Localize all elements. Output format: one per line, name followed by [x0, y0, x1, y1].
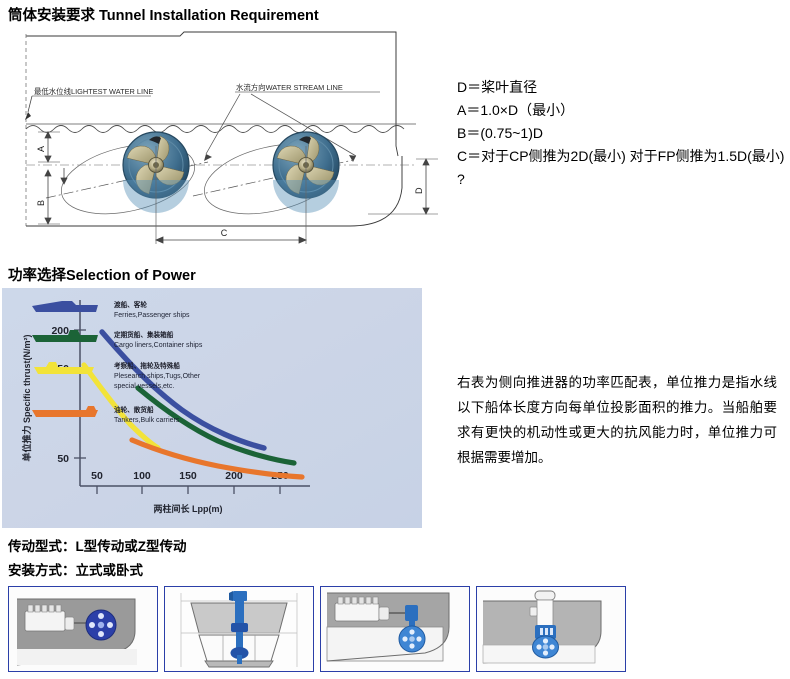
curve-ferries-passenger [102, 332, 264, 448]
x-tick-100: 100 [133, 470, 151, 482]
legend-en-research-1: Plesearch ships,Tugs,Other [114, 373, 201, 380]
formula-line-b: B＝(0.75~1)D [457, 122, 787, 145]
dimension-c [156, 237, 306, 243]
dimension-d [368, 159, 438, 214]
dimension-d-label: D [414, 187, 424, 194]
legend-en-tankers: Tankers,Bulk carriers [114, 417, 180, 424]
dimension-a-label: A [36, 146, 46, 152]
legend-en-ferries: Ferries,Passenger ships [114, 312, 190, 319]
legend-en-research-2: special vessels,etc. [114, 383, 174, 390]
y-tick-50: 50 [57, 453, 69, 465]
legend-item-ferries: 渡船、客轮 Ferries,Passenger ships [32, 300, 190, 319]
spec-drive-type: 传动型式：L型传动或Z型传动 [8, 535, 187, 555]
installation-photo-2[interactable] [164, 586, 314, 672]
legend-cn-tankers: 油轮、散货船 [114, 405, 154, 414]
streamline-label-text: 水流方向WATER STREAM LINE [236, 83, 343, 92]
x-axis-ticks [97, 486, 280, 494]
installation-photo-1[interactable] [8, 586, 158, 672]
formula-line-d: D＝桨叶直径 [457, 76, 787, 99]
chart-explanation-paragraph: 右表为侧向推进器的功率匹配表，单位推力是指水线以下船体长度方向每单位投影面积的推… [457, 370, 777, 470]
power-selection-chart: 200 150 100 50 50 100 150 200 250 单位推力 S… [2, 288, 422, 528]
formula-line-a: A＝1.0×D（最小） [457, 99, 787, 122]
installation-photo-3[interactable] [320, 586, 470, 672]
formula-line-c: C＝对于CP侧推为2D(最小) 对于FP侧推为1.5D(最小) [457, 145, 787, 168]
spec-mounting-type: 安装方式：立式或卧式 [8, 559, 143, 579]
ship-silhouette-icon [32, 301, 98, 312]
x-axis-title: 两柱间长 Lpp(m) [154, 503, 223, 514]
dimension-formula-list: D＝桨叶直径 A＝1.0×D（最小） B＝(0.75~1)D C＝对于CP侧推为… [457, 76, 787, 191]
y-axis-title: 单位推力 Specific thrust(N/m²) [21, 334, 32, 461]
dimension-c-label: C [221, 228, 228, 238]
formula-line-question: ? [457, 168, 787, 191]
installation-photo-strip [8, 586, 782, 674]
installation-photo-4[interactable] [476, 586, 626, 672]
tunnel-installation-drawing: 最低水位线LIGHTEST WATER LINE 水流方向WATER STREA… [8, 28, 448, 256]
legend-en-cargo: Cargo liners,Container ships [114, 342, 203, 349]
legend-cn-ferries: 渡船、客轮 [114, 300, 147, 309]
legend-cn-cargo: 定期货船、集装箱船 [114, 330, 174, 339]
waterline-label-text: 最低水位线LIGHTEST WATER LINE [34, 87, 153, 96]
x-tick-50: 50 [91, 470, 103, 482]
dimension-b-label: B [36, 200, 46, 206]
page-title-tunnel-installation: 筒体安装要求 Tunnel Installation Requirement [8, 4, 319, 25]
datasheet-page: 筒体安装要求 Tunnel Installation Requirement [0, 0, 790, 679]
x-tick-150: 150 [179, 470, 197, 482]
lightest-water-line-label: 最低水位线LIGHTEST WATER LINE [25, 87, 153, 120]
legend-cn-research: 考察船、拖轮及特殊船 [114, 361, 180, 370]
section-title-selection-of-power: 功率选择Selection of Power [8, 264, 196, 285]
